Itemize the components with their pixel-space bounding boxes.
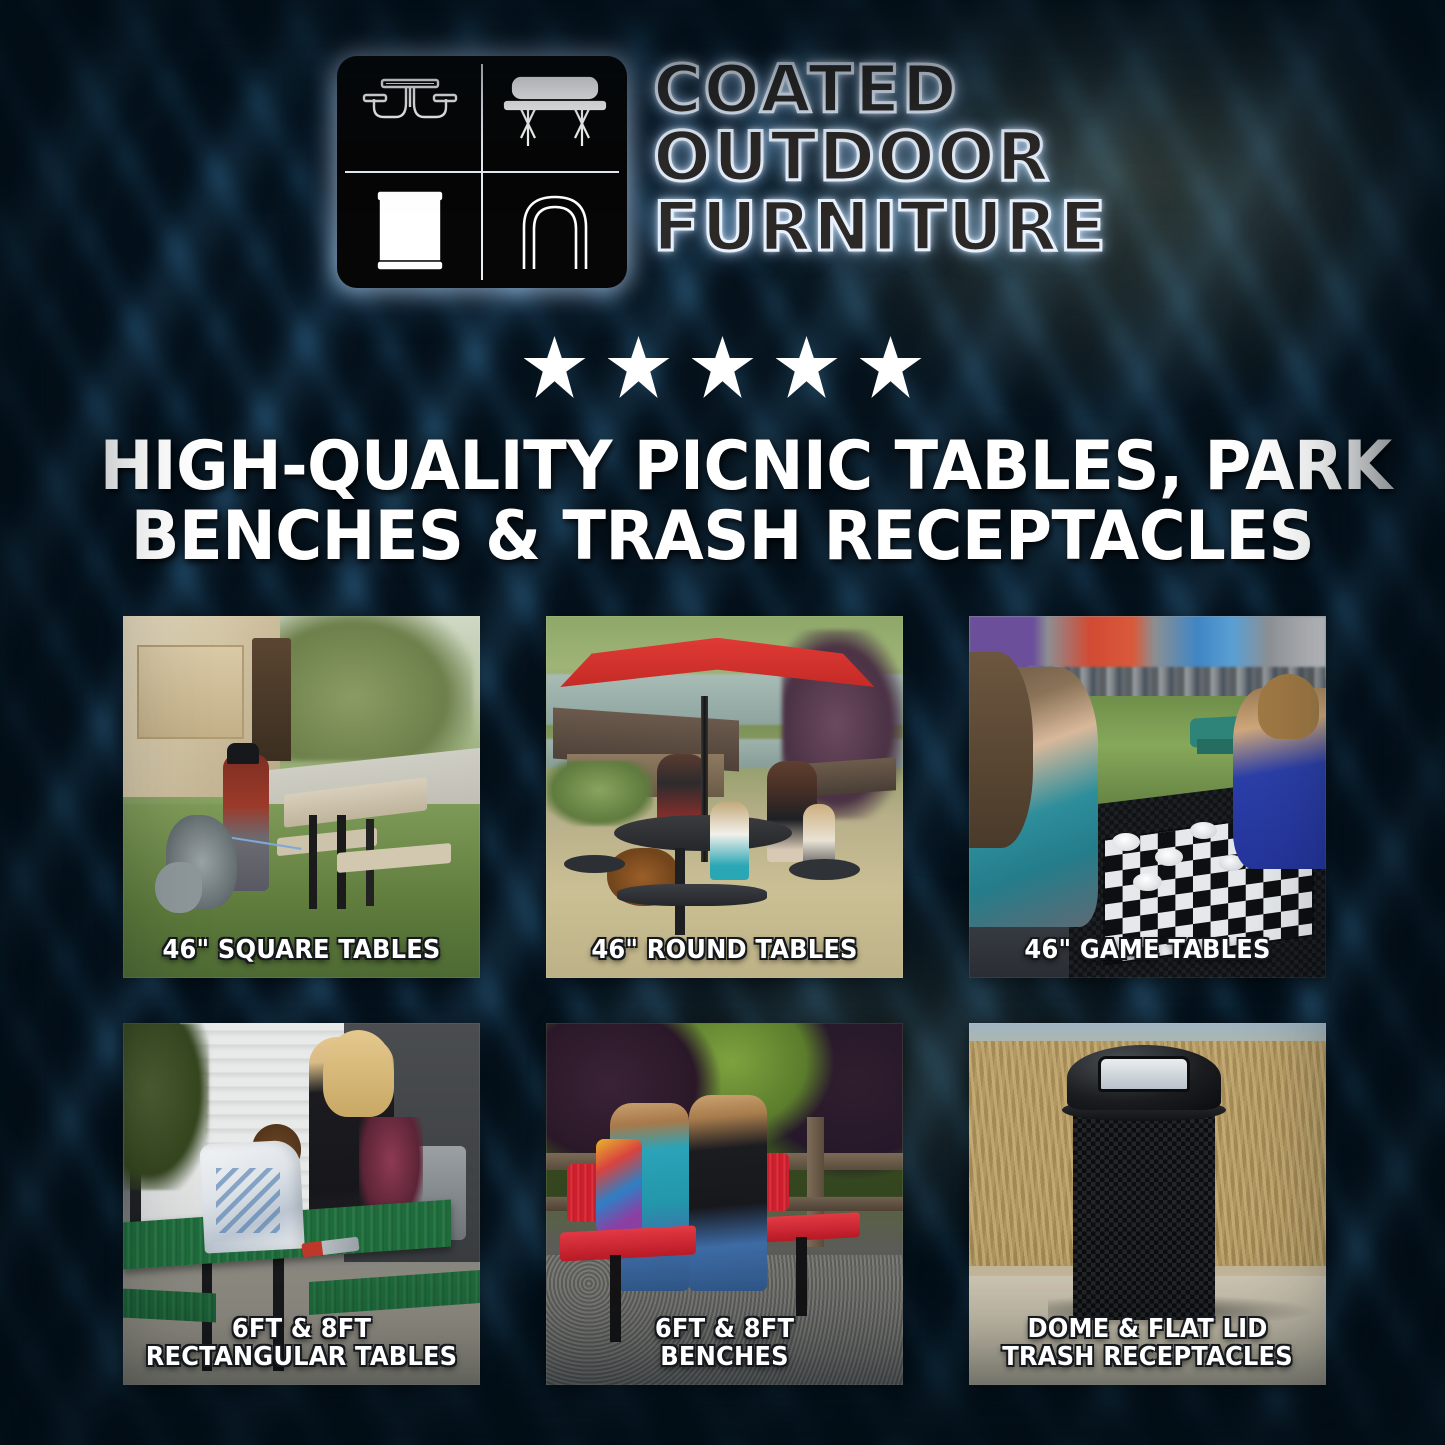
product-caption-line-1: 46" ROUND TABLES [564,937,885,964]
star-rating [0,336,1445,398]
product-caption: 46" ROUND TABLES [564,937,885,964]
star-icon [692,336,754,398]
picnic-table-side-icon [482,56,627,172]
brand-wordmark: COATED OUTDOOR FURNITURE [653,56,1108,260]
product-tile-trash-receptacles[interactable]: DOME & FLAT LID TRASH RECEPTACLES [969,1023,1326,1385]
picnic-table-front-icon [337,56,482,172]
bike-rack-arch-icon [482,172,627,288]
product-caption-line-1: 6FT & 8FT [564,1316,885,1343]
product-caption: DOME & FLAT LID TRASH RECEPTACLES [987,1316,1308,1371]
product-caption-line-1: 46" SQUARE TABLES [141,937,462,964]
page-title: HIGH-QUALITY PICNIC TABLES, PARK BENCHES… [100,432,1346,572]
promo-graphic: COATED OUTDOOR FURNITURE HIGH-QUALITY PI… [0,0,1445,1445]
product-tile-benches[interactable]: 6FT & 8FT BENCHES [546,1023,903,1385]
product-tile-square-tables[interactable]: 46" SQUARE TABLES [123,616,480,978]
headline-line-2: BENCHES & TRASH RECEPTACLES [100,502,1346,572]
star-icon [524,336,586,398]
trash-receptacle-icon [337,172,482,288]
star-icon [860,336,922,398]
product-caption-line-2: RECTANGULAR TABLES [141,1344,462,1371]
product-caption-line-1: DOME & FLAT LID [987,1316,1308,1343]
product-caption: 6FT & 8FT BENCHES [564,1316,885,1371]
headline-line-1: HIGH-QUALITY PICNIC TABLES, PARK [100,432,1346,502]
product-caption: 46" GAME TABLES [987,937,1308,964]
wordmark-line-outdoor: OUTDOOR [653,125,1108,190]
brand-header: COATED OUTDOOR FURNITURE [0,56,1445,288]
star-icon [608,336,670,398]
wordmark-line-furniture: FURNITURE [653,195,1108,260]
product-photo-game-tables [969,616,1326,978]
product-caption-line-1: 6FT & 8FT [141,1316,462,1343]
product-caption: 6FT & 8FT RECTANGULAR TABLES [141,1316,462,1371]
product-caption: 46" SQUARE TABLES [141,937,462,964]
star-icon [776,336,838,398]
product-photo-square-tables [123,616,480,978]
product-grid: 46" SQUARE TABLES [123,616,1323,1385]
product-caption-line-2: TRASH RECEPTACLES [987,1344,1308,1371]
product-tile-game-tables[interactable]: 46" GAME TABLES [969,616,1326,978]
product-caption-line-2: BENCHES [564,1344,885,1371]
product-caption-line-1: 46" GAME TABLES [987,937,1308,964]
product-photo-round-tables [546,616,903,978]
four-quadrant-outdoor-furniture-icon [337,56,627,288]
product-tile-round-tables[interactable]: 46" ROUND TABLES [546,616,903,978]
wordmark-line-coated: COATED [653,58,1108,121]
product-tile-rectangular-tables[interactable]: 6FT & 8FT RECTANGULAR TABLES [123,1023,480,1385]
